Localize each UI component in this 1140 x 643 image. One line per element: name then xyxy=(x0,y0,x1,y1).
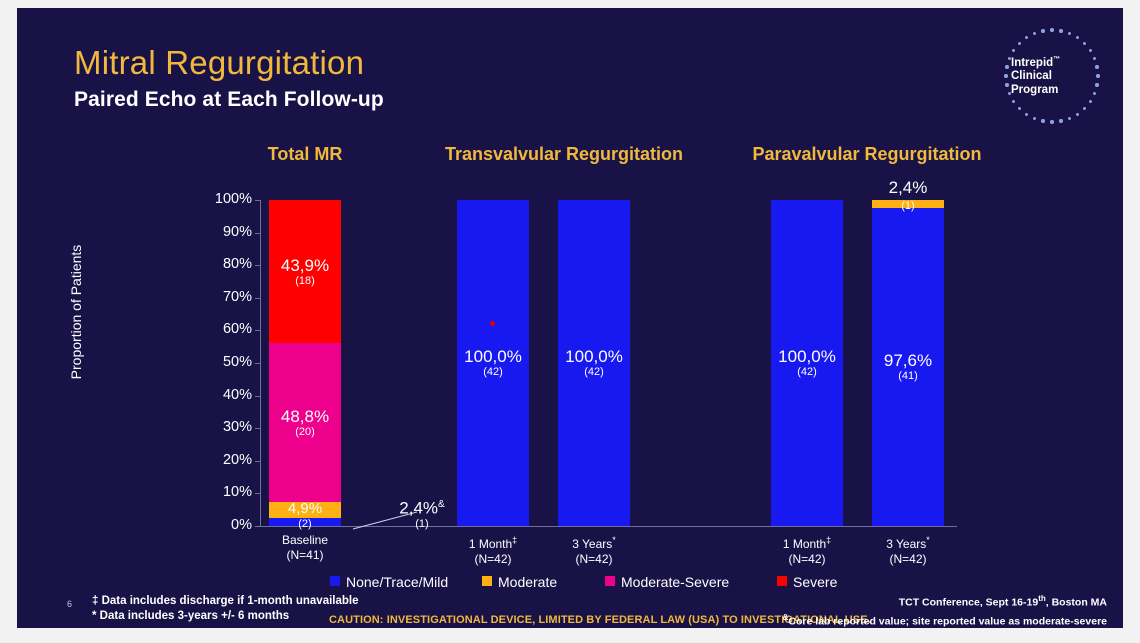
conference-credit: TCT Conference, Sept 16-19th, Boston MA xyxy=(899,594,1107,609)
footnote-amp-text: Core lab reported value; site reported v… xyxy=(788,616,1107,628)
above-bar-value-label: 2,4% xyxy=(872,178,944,197)
legend-label: Moderate-Severe xyxy=(621,574,729,590)
legend-label: Severe xyxy=(793,574,837,590)
x-category-n: (N=42) xyxy=(474,552,511,566)
y-tick-mark xyxy=(255,461,260,462)
bar-1-month-3[interactable]: 100,0%(42) xyxy=(771,200,843,526)
bar-3-years-3[interactable]: 97,6%(41) xyxy=(872,200,944,526)
legend-item-moderate[interactable]: Moderate xyxy=(482,574,557,590)
x-category-footnote-marker: * xyxy=(926,535,930,545)
x-category-name: 3 Years xyxy=(572,537,612,551)
legend-item-moderate-severe[interactable]: Moderate-Severe xyxy=(605,574,729,590)
x-category-name: 3 Years xyxy=(886,537,926,551)
x-category-n: (N=42) xyxy=(889,552,926,566)
chart-plot-area: Proportion of Patients 100%90%80%70%60%5… xyxy=(17,8,1123,628)
y-tick-label: 50% xyxy=(194,354,252,370)
callout-marker: & xyxy=(438,499,445,510)
legend-swatch xyxy=(330,576,340,586)
footnote-left: ‡ Data includes discharge if 1-month una… xyxy=(92,594,359,623)
x-category-name: 1 Month xyxy=(469,537,512,551)
y-tick-label: 30% xyxy=(194,419,252,435)
bar-segment-moderate-severe[interactable] xyxy=(269,343,341,502)
legend-swatch xyxy=(482,576,492,586)
y-tick-label: 70% xyxy=(194,289,252,305)
legend-swatch xyxy=(777,576,787,586)
legend-item-none-trace-mild[interactable]: None/Trace/Mild xyxy=(330,574,448,590)
bar-segment-moderate[interactable] xyxy=(269,502,341,518)
bar-baseline-1[interactable]: 4,9%(2)48,8%(20)43,9%(18) xyxy=(269,200,341,526)
x-category-name: Baseline xyxy=(282,533,328,547)
x-category-footnote-marker: * xyxy=(612,535,616,545)
x-category-name: 1 Month xyxy=(783,537,826,551)
conference-text: TCT Conference, Sept 16-19 xyxy=(899,597,1038,609)
y-tick-mark xyxy=(255,330,260,331)
y-tick-mark xyxy=(255,265,260,266)
y-tick-mark xyxy=(255,493,260,494)
y-axis-line xyxy=(260,200,261,526)
above-bar-percent: 2,4% xyxy=(889,178,928,197)
slide-page: Mitral Regurgitation Paired Echo at Each… xyxy=(0,0,1140,643)
bar-1-month-2[interactable]: 100,0%(42) xyxy=(457,200,529,526)
x-category-footnote-marker: ‡ xyxy=(826,535,831,545)
presentation-slide: Mitral Regurgitation Paired Echo at Each… xyxy=(17,8,1123,628)
y-tick-label: 90% xyxy=(194,224,252,240)
chart-legend: None/Trace/MildModerateModerate-SevereSe… xyxy=(17,574,1123,594)
y-tick-mark xyxy=(255,298,260,299)
y-tick-label: 80% xyxy=(194,256,252,272)
bar-segment-none-trace-mild[interactable] xyxy=(771,200,843,526)
footnote-dagger-note: ‡ Data includes discharge if 1-month una… xyxy=(92,595,359,607)
legend-swatch xyxy=(605,576,615,586)
baseline-none-callout-label: 2,4%& (1) xyxy=(385,495,459,531)
footnote-ampersand: &Core lab reported value; site reported … xyxy=(783,613,1107,628)
bar-segment-severe[interactable] xyxy=(269,200,341,343)
above-bar-count-label: (1) xyxy=(872,197,944,216)
y-tick-mark xyxy=(255,200,260,201)
y-tick-mark xyxy=(255,396,260,397)
y-tick-mark xyxy=(255,526,260,527)
x-category-n: (N=41) xyxy=(286,548,323,562)
x-category-label: 3 Years*(N=42) xyxy=(838,533,978,567)
bar-segment-none-trace-mild[interactable] xyxy=(558,200,630,526)
y-tick-label: 0% xyxy=(194,517,252,533)
y-tick-label: 100% xyxy=(194,191,252,207)
x-category-n: (N=42) xyxy=(788,552,825,566)
bar-3-years-2[interactable]: 100,0%(42) xyxy=(558,200,630,526)
x-category-label: 3 Years*(N=42) xyxy=(524,533,664,567)
callout-count: (1) xyxy=(385,518,459,531)
bar-segment-none-trace-mild[interactable] xyxy=(269,518,341,526)
y-tick-label: 20% xyxy=(194,452,252,468)
y-tick-mark xyxy=(255,363,260,364)
y-tick-label: 60% xyxy=(194,321,252,337)
bar-segment-none-trace-mild[interactable] xyxy=(872,208,944,526)
y-tick-mark xyxy=(255,428,260,429)
callout-value: 2,4% xyxy=(399,499,438,518)
y-axis-title: Proportion of Patients xyxy=(68,217,84,407)
legend-label: Moderate xyxy=(498,574,557,590)
page-number: 6 xyxy=(67,599,72,609)
y-tick-label: 10% xyxy=(194,484,252,500)
x-category-n: (N=42) xyxy=(575,552,612,566)
conference-location: , Boston MA xyxy=(1046,597,1107,609)
footnote-asterisk-note: * Data includes 3-years +/- 6 months xyxy=(92,610,289,622)
y-tick-label: 40% xyxy=(194,387,252,403)
legend-item-severe[interactable]: Severe xyxy=(777,574,837,590)
conference-ordinal: th xyxy=(1038,594,1046,603)
mouse-cursor-dot xyxy=(490,321,495,326)
x-category-footnote-marker: ‡ xyxy=(512,535,517,545)
y-tick-mark xyxy=(255,233,260,234)
legend-label: None/Trace/Mild xyxy=(346,574,448,590)
bar-segment-none-trace-mild[interactable] xyxy=(457,200,529,526)
x-category-label: Baseline(N=41) xyxy=(235,533,375,563)
